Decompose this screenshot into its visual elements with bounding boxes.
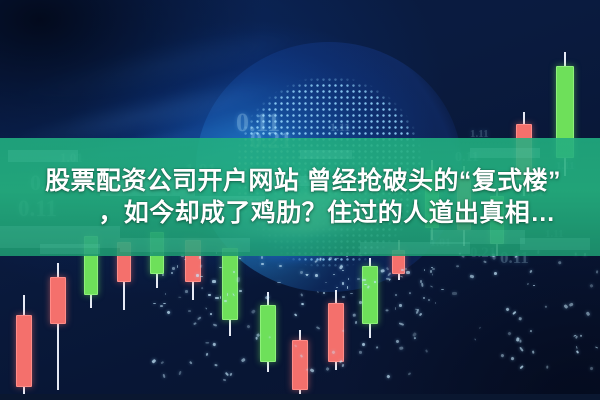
particle-fleck xyxy=(208,294,211,296)
particle-fleck xyxy=(357,278,359,280)
particle-fleck xyxy=(162,274,163,276)
particle-fleck xyxy=(305,369,308,371)
candlestick-body xyxy=(50,277,66,324)
particle-fleck xyxy=(385,309,388,311)
particle-fleck xyxy=(261,256,263,259)
particle-fleck xyxy=(435,302,437,304)
candlestick xyxy=(292,330,308,400)
particle-fleck xyxy=(185,290,188,293)
candlestick-body xyxy=(328,303,344,362)
particle-fleck xyxy=(342,282,344,285)
particle-fleck xyxy=(432,268,434,271)
candlestick-body xyxy=(362,266,378,324)
candlestick-body xyxy=(260,305,276,362)
particle-fleck xyxy=(199,256,201,259)
particle-fleck xyxy=(431,267,433,268)
particle-fleck xyxy=(527,283,529,285)
particle-fleck xyxy=(268,336,270,339)
particle-fleck xyxy=(212,280,216,283)
particle-fleck xyxy=(315,274,318,277)
particle-fleck xyxy=(299,271,303,275)
headline-line-1: 股票配资公司开户网站 曾经抢破头的“复式楼” xyxy=(39,166,561,197)
particle-fleck xyxy=(171,272,173,274)
particle-fleck xyxy=(177,265,178,267)
particle-fleck xyxy=(409,292,411,294)
particle-fleck xyxy=(196,274,199,277)
particle-fleck xyxy=(160,305,164,307)
particle-fleck xyxy=(329,257,332,260)
particle-fleck xyxy=(399,304,402,307)
particle-fleck xyxy=(362,279,365,281)
particle-fleck xyxy=(546,366,548,369)
candlestick-body xyxy=(292,340,308,390)
headline-block: 股票配资公司开户网站 曾经抢破头的“复式楼” ，如今却成了鸡肋？住过的人道出真相… xyxy=(0,138,600,256)
particle-fleck xyxy=(305,274,309,276)
particle-fleck xyxy=(452,292,457,295)
particle-fleck xyxy=(494,272,497,275)
particle-fleck xyxy=(219,267,222,268)
particle-fleck xyxy=(184,259,186,260)
particle-fleck xyxy=(359,301,362,303)
candlestick-body xyxy=(16,315,32,387)
bottom-frame-edge xyxy=(0,394,600,400)
particle-fleck xyxy=(301,303,303,306)
particle-fleck xyxy=(342,329,344,331)
particle-fleck xyxy=(532,350,534,353)
candlestick xyxy=(16,295,32,400)
particle-fleck xyxy=(406,271,410,273)
particle-fleck xyxy=(395,294,397,296)
particle-fleck xyxy=(261,263,264,264)
particle-fleck xyxy=(239,290,242,291)
particle-fleck xyxy=(279,265,282,267)
particle-fleck xyxy=(519,339,521,342)
particle-fleck xyxy=(172,267,175,270)
candlestick-body xyxy=(222,248,238,320)
particle-fleck xyxy=(423,297,425,299)
particle-fleck xyxy=(336,258,340,259)
candlestick xyxy=(362,258,378,338)
particle-fleck xyxy=(430,270,432,273)
particle-fleck xyxy=(215,297,219,298)
candlestick xyxy=(50,263,66,390)
candlestick xyxy=(222,248,238,336)
particle-fleck xyxy=(342,296,344,298)
particle-fleck xyxy=(224,300,226,302)
candlestick xyxy=(260,292,276,372)
particle-fleck xyxy=(386,374,389,378)
headline-line-2: ，如今却成了鸡肋？住过的人道出真相… xyxy=(44,198,555,229)
particle-fleck xyxy=(227,293,229,295)
particle-fleck xyxy=(374,281,377,283)
particle-fleck xyxy=(178,296,181,298)
particle-fleck xyxy=(529,330,531,332)
particle-fleck xyxy=(323,292,325,294)
banner-image: 0.110.211.011.110.111.011.110.111.010.11… xyxy=(0,0,600,400)
